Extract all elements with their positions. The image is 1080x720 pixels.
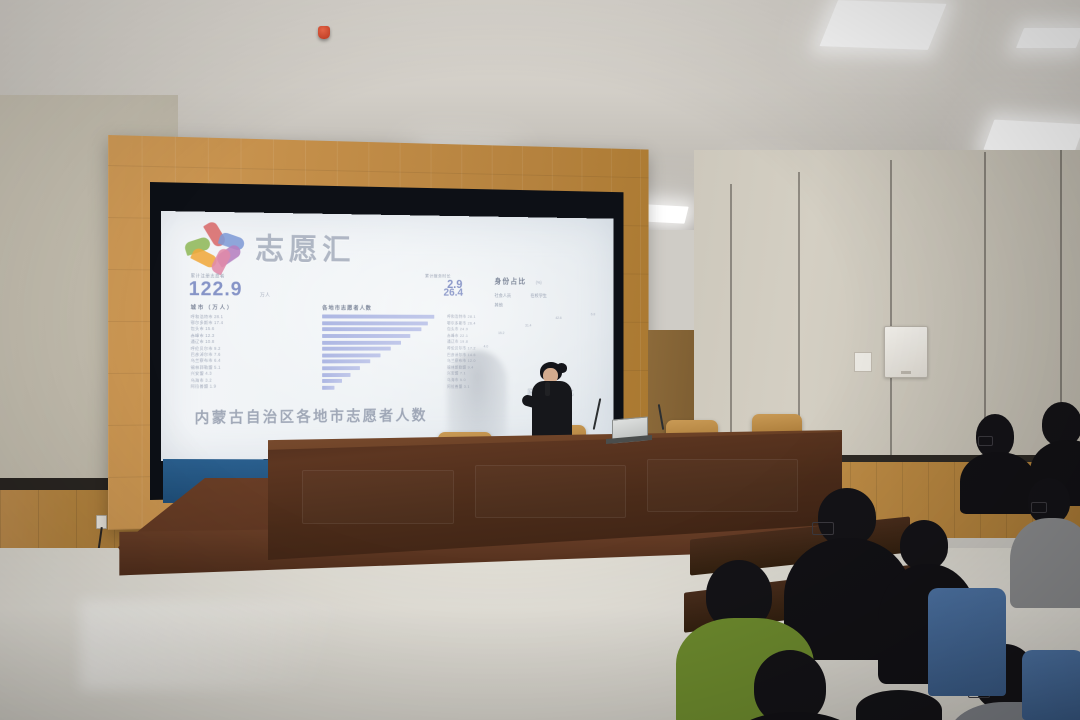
glasses-icon [812,522,834,535]
identity-legend-item: 社会人员 [494,293,511,299]
bar [322,360,370,364]
stat-secondary-value-alt: 26.4 [443,287,463,299]
presenter [528,362,574,442]
stat-primary-value: 122.9 [189,278,243,301]
wall-outlet-plate-icon [854,352,872,372]
glasses-icon [978,436,993,446]
audience-seat[interactable] [1022,650,1080,720]
identity-section-title: 身份占比 [494,276,526,287]
brand-name: 志愿汇 [255,224,355,268]
glasses-icon [1031,502,1047,513]
wall-control-box[interactable] [884,326,928,378]
photo-scene: 志愿汇 累计注册志愿者 122.9 万人 累计服务时长 2.9 26.4 城市（… [0,0,1080,720]
floor-reflection [80,600,440,690]
ceiling-light [819,0,946,50]
bar [322,321,427,325]
chart-title: 各地市志愿者人数 [322,304,372,312]
slide-caption: 内蒙古自治区各地市志愿者人数 [195,404,428,427]
brand-logo-icon [179,223,249,270]
identity-node-value: 15.2 [498,331,504,335]
audience-seat[interactable] [928,588,1006,696]
bar [322,315,434,319]
city-row: 阿拉善盟 1.9 [191,383,307,390]
bar [322,379,342,383]
bar [322,353,381,357]
smoke-detector-icon [318,26,330,39]
presenter-torso [532,381,572,439]
bar [322,373,351,377]
city-table-rows: 呼和浩特市 28.1鄂尔多斯市 17.4包头市 15.6赤峰市 12.3通辽市 … [191,314,307,391]
handheld-microphone-icon [545,382,550,396]
bar-chart [322,314,443,391]
identity-node-value: 31.4 [525,324,531,328]
audience [690,400,1080,720]
presenter-bun-icon [556,363,567,373]
identity-node-value: 42.6 [555,316,561,320]
bar-row [322,384,443,391]
city-table-header: 城市（万人） [191,303,307,311]
bar [322,366,360,370]
bar [322,347,391,351]
ceiling-light [1016,28,1080,48]
identity-legend-item: 在校学生 [530,293,546,299]
identity-node-value: 4.0 [484,345,489,349]
stat-primary-unit: 万人 [260,292,271,299]
bar [322,341,401,345]
identity-legend-item: 其他 [494,303,502,309]
bar [322,386,335,390]
identity-node-value: 6.8 [591,312,595,316]
identity-unit: (%) [536,280,542,285]
bar [322,334,410,338]
bar [322,328,421,332]
city-table: 城市（万人） 呼和浩特市 28.1鄂尔多斯市 17.4包头市 15.6赤峰市 1… [191,303,307,390]
